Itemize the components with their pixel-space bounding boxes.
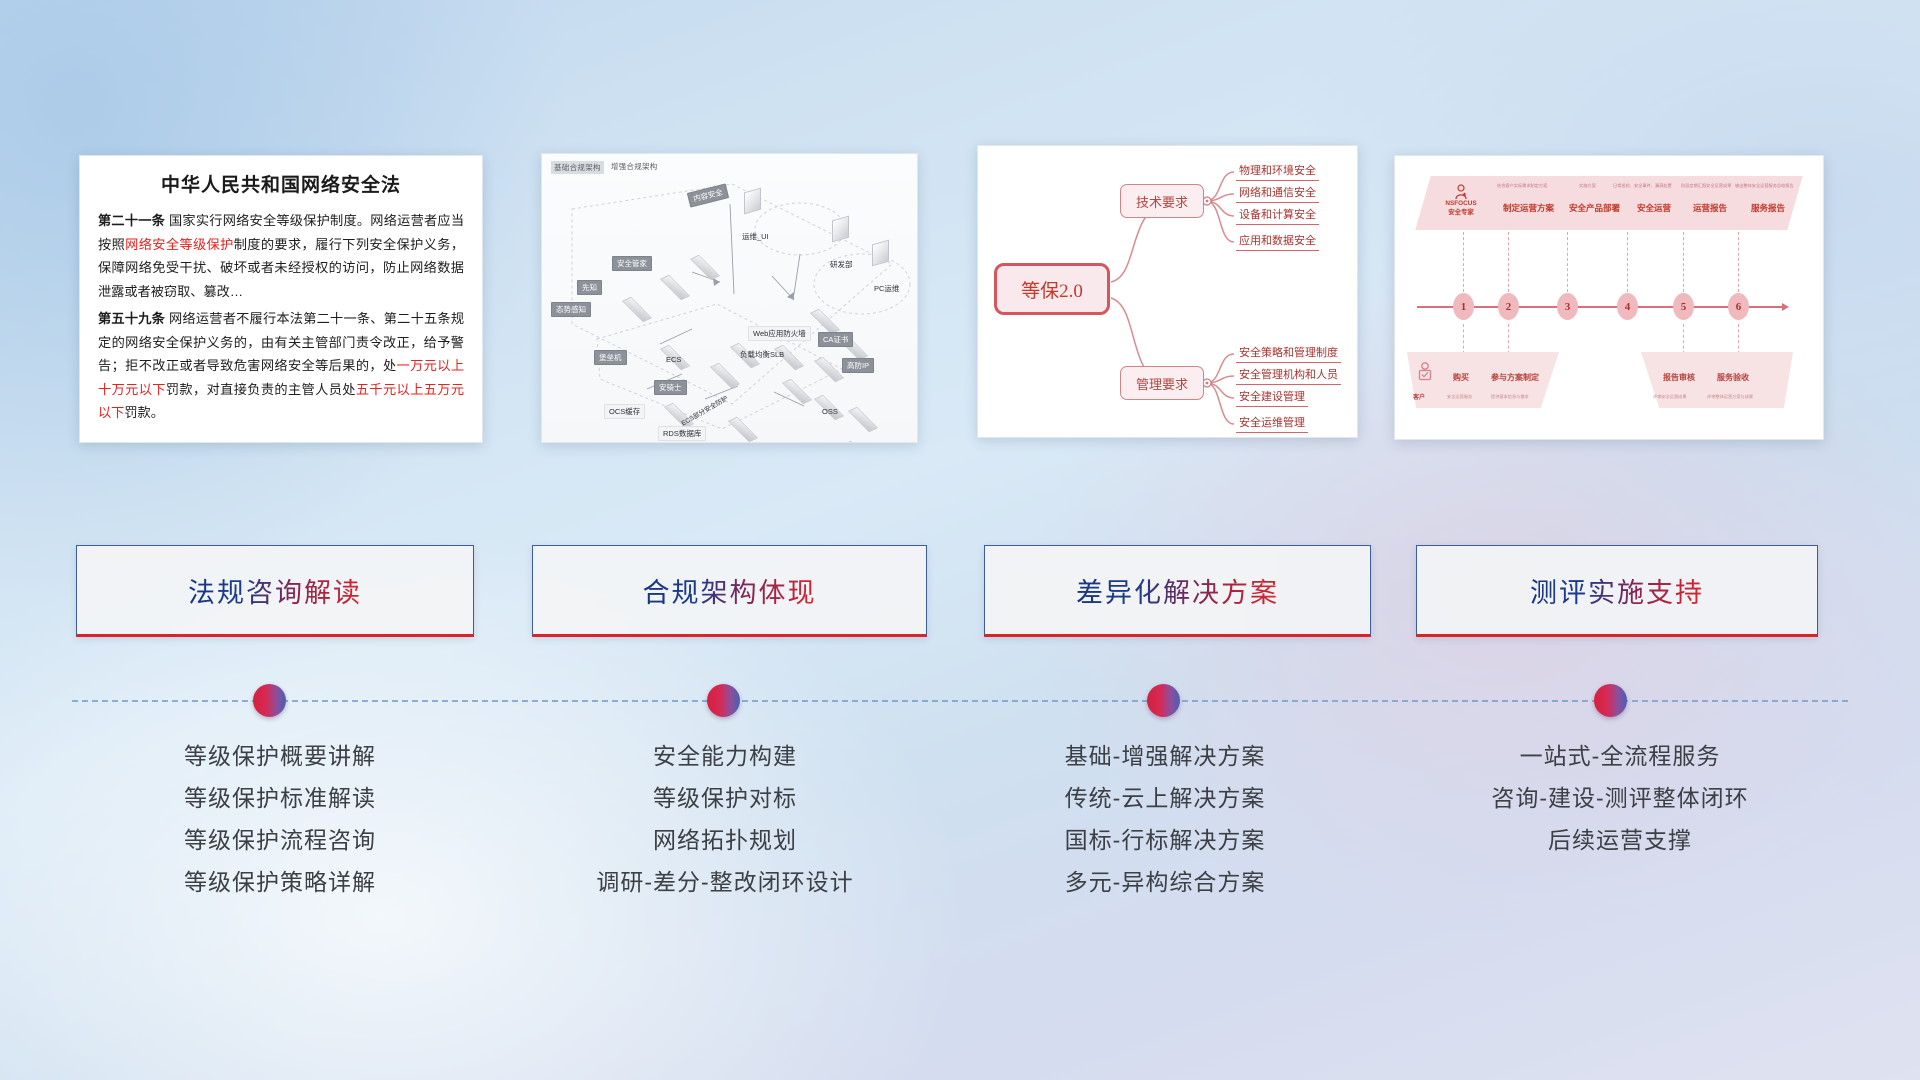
customer-label: 客户 <box>1413 392 1425 401</box>
detail-column-3: 基础-增强解决方案 传统-云上解决方案 国标-行标解决方案 多元-异构综合方案 <box>945 735 1385 903</box>
label-gaofang-ip: 高防IP <box>842 358 874 373</box>
label-slb: 负载均衡SLB <box>736 348 788 361</box>
detail-column-2: 安全能力构建 等级保护对标 网络拓扑规划 调研-差分-整改闭环设计 <box>505 735 945 903</box>
preview-cards-row: 中华人民共和国网络安全法 第二十一条 国家实行网络安全等级保护制度。网络运营者应… <box>0 0 1920 460</box>
article-59-text-2: 罚款，对直接负责的主管人员处 <box>166 382 356 397</box>
label-ops-ui: 运维_UI <box>738 230 773 243</box>
label-ecs: ECS <box>662 354 685 365</box>
label-security-steward: 安全管家 <box>612 256 652 271</box>
tick-line-3 <box>1567 232 1568 292</box>
heading-box-differentiated-solution[interactable]: 差异化解决方案 <box>984 545 1371 637</box>
banner-sub-3: 日常巡检、安全事件、漏洞处置 <box>1613 183 1672 189</box>
label-ocs-cache: OCS缓存 <box>604 404 645 419</box>
trap-right-sub-2: 评审整体运营方案与成果 <box>1707 394 1753 400</box>
list-item: 等级保护对标 <box>505 777 945 819</box>
article-21-label: 第二十一条 <box>98 213 165 228</box>
tick-line-10 <box>1738 324 1739 354</box>
nsfocus-step-4[interactable]: 4 <box>1617 293 1638 320</box>
list-item: 国标-行标解决方案 <box>945 819 1385 861</box>
nsfocus-logo: NSFOCUS 安全专家 <box>1435 184 1487 217</box>
trap-left-main-2: 参与方案制定 <box>1491 372 1539 383</box>
tick-line-9 <box>1683 324 1684 354</box>
nsfocus-logo-line1: NSFOCUS <box>1435 200 1487 209</box>
trap-left-main-1: 购买 <box>1453 372 1469 383</box>
trap-right-sub-1: 评审安全运营成果 <box>1653 394 1687 400</box>
list-item: 安全能力构建 <box>505 735 945 777</box>
list-item: 后续运营支撑 <box>1400 819 1840 861</box>
mindmap-leaf-construction-mgmt: 安全建设管理 <box>1236 388 1308 407</box>
article-59-label: 第五十九条 <box>98 311 165 326</box>
nsfocus-step-1[interactable]: 1 <box>1453 293 1474 320</box>
mindmap-leaf-physical-env: 物理和环境安全 <box>1236 162 1319 181</box>
list-item: 网络拓扑规划 <box>505 819 945 861</box>
nsfocus-step-5[interactable]: 5 <box>1673 293 1694 320</box>
banner-main-1: 制定运营方案 <box>1503 202 1554 214</box>
card-cybersecurity-law[interactable]: 中华人民共和国网络安全法 第二十一条 国家实行网络安全等级保护制度。网络运营者应… <box>79 155 483 443</box>
section-headings-row: 法规咨询解读 合规架构体现 差异化解决方案 测评实施支持 <box>0 545 1920 655</box>
label-ca-cert: CA证书 <box>818 332 853 347</box>
heading-label-1: 法规咨询解读 <box>188 571 362 610</box>
label-situational-awareness: 态势感知 <box>551 302 591 317</box>
trap-right-main-1: 报告审核 <box>1663 372 1695 383</box>
detail-column-4: 一站式-全流程服务 咨询-建设-测评整体闭环 后续运营支撑 <box>1400 735 1840 861</box>
list-item: 等级保护概要讲解 <box>60 735 500 777</box>
trap-left-sub-2: 提供基本信息与需求 <box>1491 394 1529 400</box>
customer-person-icon <box>1417 362 1433 382</box>
detail-columns-row: 等级保护概要讲解 等级保护标准解读 等级保护流程咨询 等级保护策略详解 安全能力… <box>0 735 1920 985</box>
mindmap-leaf-app-data: 应用和数据安全 <box>1236 232 1319 251</box>
nsfocus-step-2[interactable]: 2 <box>1498 293 1519 320</box>
heading-box-compliance-architecture[interactable]: 合规架构体现 <box>532 545 927 637</box>
label-xianzhi: 先知 <box>577 280 602 295</box>
nsfocus-flow-diagram: NSFOCUS 安全专家 结合客户实际需求制定方案 制定运营方案 实施方案 安全… <box>1395 156 1823 439</box>
list-item: 多元-异构综合方案 <box>945 861 1385 903</box>
law-article-59: 第五十九条 网络运营者不履行本法第二十一条、第二十五条规定的网络安全保护义务的，… <box>98 307 464 425</box>
tick-line-4 <box>1627 232 1628 292</box>
nsfocus-step-6[interactable]: 6 <box>1728 293 1749 320</box>
list-item: 传统-云上解决方案 <box>945 777 1385 819</box>
mindmap: 等保2.0 技术要求 物理和环境安全 网络和通信安全 设备和计算安全 应用和数据… <box>978 146 1357 437</box>
mindmap-branch-technical[interactable]: 技术要求 <box>1120 184 1204 218</box>
heading-box-regulation-consulting[interactable]: 法规咨询解读 <box>76 545 474 637</box>
mindmap-branch-management[interactable]: 管理要求 <box>1120 366 1204 400</box>
list-item: 等级保护策略详解 <box>60 861 500 903</box>
detail-column-1: 等级保护概要讲解 等级保护标准解读 等级保护流程咨询 等级保护策略详解 <box>60 735 500 903</box>
nsfocus-step-3[interactable]: 3 <box>1557 293 1578 320</box>
label-oss: OSS <box>818 406 842 417</box>
label-anqishi: 安骑士 <box>654 380 687 395</box>
heading-label-3: 差异化解决方案 <box>1076 571 1279 610</box>
law-article-21: 第二十一条 国家实行网络安全等级保护制度。网络运营者应当按照网络安全等级保护制度… <box>98 209 464 303</box>
mindmap-leaf-policy-system: 安全策略和管理制度 <box>1236 344 1341 363</box>
banner-main-4: 运营报告 <box>1693 202 1727 214</box>
heading-box-evaluation-support[interactable]: 测评实施支持 <box>1416 545 1818 637</box>
nsfocus-logo-line2: 安全专家 <box>1435 209 1487 218</box>
list-item: 等级保护流程咨询 <box>60 819 500 861</box>
architecture-diagram: 基础合规架构 增强合规架构 <box>542 154 917 442</box>
banner-main-5: 服务报告 <box>1751 202 1785 214</box>
banner-main-2: 安全产品部署 <box>1569 202 1620 214</box>
expert-person-icon <box>1454 184 1468 200</box>
article-59-text-3: 罚款。 <box>124 405 164 420</box>
tick-line-6 <box>1738 232 1739 292</box>
banner-sub-2: 实施方案 <box>1579 183 1596 189</box>
tick-line-7 <box>1463 324 1464 354</box>
card-nsfocus-service-flow[interactable]: NSFOCUS 安全专家 结合客户实际需求制定方案 制定运营方案 实施方案 安全… <box>1394 155 1824 440</box>
card-mindmap-dengbao[interactable]: 等保2.0 技术要求 物理和环境安全 网络和通信安全 设备和计算安全 应用和数据… <box>977 145 1358 438</box>
mindmap-leaf-network-comm: 网络和通信安全 <box>1236 184 1319 203</box>
timeline-dashed-line <box>72 700 1848 702</box>
label-rd-dept: 研发部 <box>826 258 857 271</box>
law-title: 中华人民共和国网络安全法 <box>98 170 464 197</box>
timeline <box>0 670 1920 730</box>
list-item: 咨询-建设-测评整体闭环 <box>1400 777 1840 819</box>
mindmap-leaf-org-personnel: 安全管理机构和人员 <box>1236 366 1341 385</box>
timeline-dot-2[interactable] <box>707 684 740 717</box>
label-waf: Web应用防火墙 <box>748 326 811 341</box>
list-item: 等级保护标准解读 <box>60 777 500 819</box>
banner-sub-5: 输出整体安全运营服务总结报告 <box>1735 183 1794 189</box>
mindmap-leaf-operation-mgmt: 安全运维管理 <box>1236 414 1308 433</box>
timeline-dot-3[interactable] <box>1147 684 1180 717</box>
article-21-highlight: 网络安全等级保护 <box>125 237 234 252</box>
card-compliance-architecture[interactable]: 基础合规架构 增强合规架构 <box>541 153 918 443</box>
trap-right-main-2: 服务验收 <box>1717 372 1749 383</box>
tick-line-8 <box>1508 324 1509 354</box>
law-document: 中华人民共和国网络安全法 第二十一条 国家实行网络安全等级保护制度。网络运营者应… <box>80 156 482 435</box>
heading-label-2: 合规架构体现 <box>643 571 817 610</box>
banner-main-3: 安全运营 <box>1637 202 1671 214</box>
banner-sub-4: 阶段定期汇报安全运营成果 <box>1681 183 1731 189</box>
list-item: 调研-差分-整改闭环设计 <box>505 861 945 903</box>
banner-sub-1: 结合客户实际需求制定方案 <box>1497 183 1547 189</box>
tick-line-5 <box>1683 232 1684 292</box>
tick-line-1 <box>1463 232 1464 292</box>
nsfocus-banner: NSFOCUS 安全专家 结合客户实际需求制定方案 制定运营方案 实施方案 安全… <box>1415 176 1802 230</box>
mindmap-root-node[interactable]: 等保2.0 <box>994 263 1110 315</box>
label-bastion-host: 堡垒机 <box>594 350 627 365</box>
timeline-dot-1[interactable] <box>253 684 286 717</box>
tick-line-2 <box>1508 232 1509 292</box>
list-item: 一站式-全流程服务 <box>1400 735 1840 777</box>
label-pc-ops: PC运维 <box>870 282 903 295</box>
mindmap-leaf-device-compute: 设备和计算安全 <box>1236 206 1319 225</box>
trap-left-sub-1: 安全运营服务 <box>1447 394 1472 400</box>
timeline-dot-4[interactable] <box>1594 684 1627 717</box>
list-item: 基础-增强解决方案 <box>945 735 1385 777</box>
heading-label-4: 测评实施支持 <box>1530 571 1704 610</box>
